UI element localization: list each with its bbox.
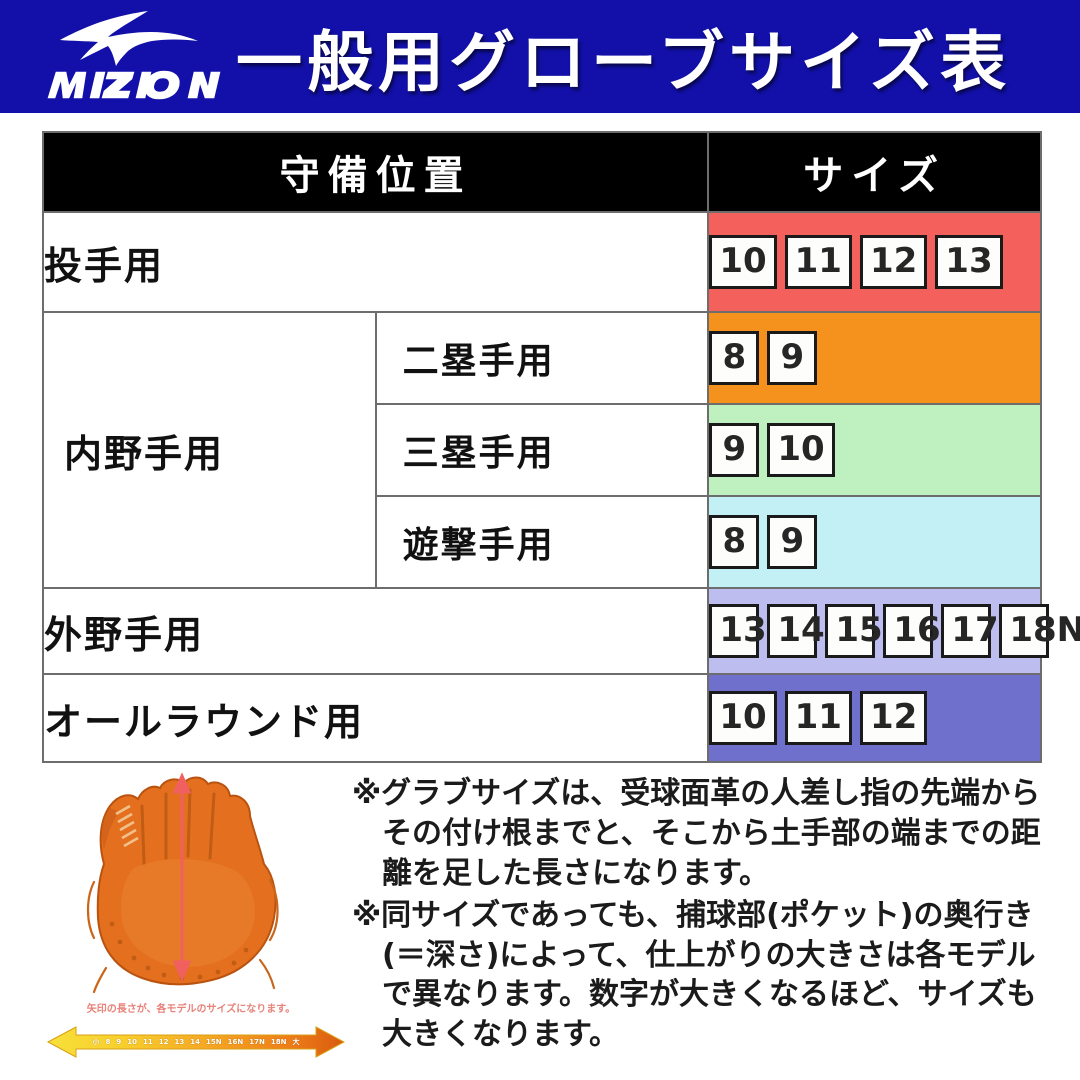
position-label-third-base: 三塁手用 <box>376 404 709 496</box>
position-label-shortstop: 遊撃手用 <box>376 496 709 588</box>
table-row: オールラウンド用 10 11 12 <box>43 674 1041 762</box>
size-badge: 12 <box>860 235 927 289</box>
size-badge-list: 13 14 15N 16N 17N 18N <box>709 604 1040 658</box>
glove-size-table: 守備位置 サイズ 投手用 10 11 12 13 内野手用 二塁手用 8 <box>42 131 1042 763</box>
position-label-pitcher: 投手用 <box>43 212 708 312</box>
size-badge-list: 10 11 12 13 <box>709 235 1040 289</box>
position-label-infield: 内野手用 <box>43 312 376 588</box>
size-badge: 9 <box>709 423 759 477</box>
mizuno-logo <box>38 8 228 108</box>
size-badge: 17N <box>941 604 991 658</box>
note-text: ※同サイズであっても、捕球部(ポケット)の奥行き(＝深さ)によって、仕上がりの大… <box>352 896 1064 1056</box>
size-badge-list: 9 10 <box>709 423 1040 477</box>
size-cell-second-base: 8 9 <box>708 312 1041 404</box>
notes-section: ※グラブサイズは、受球面革の人差し指の先端からその付け根までと、そこから土手部の… <box>352 774 1064 1057</box>
header-position: 守備位置 <box>43 132 708 212</box>
position-label-outfield: 外野手用 <box>43 588 708 674</box>
size-badge: 8 <box>709 331 759 385</box>
note-item: ※グラブサイズは、受球面革の人差し指の先端からその付け根までと、そこから土手部の… <box>352 774 1064 894</box>
size-badge: 10 <box>709 235 776 289</box>
size-badge: 10 <box>709 691 776 745</box>
size-cell-shortstop: 8 9 <box>708 496 1041 588</box>
size-badge: 18N <box>999 604 1049 658</box>
size-cell-outfield: 13 14 15N 16N 17N 18N <box>708 588 1041 674</box>
size-badge: 11 <box>785 235 852 289</box>
size-badge: 11 <box>785 691 852 745</box>
table-row: 投手用 10 11 12 13 <box>43 212 1041 312</box>
size-badge: 10 <box>767 423 834 477</box>
size-badge: 15N <box>825 604 875 658</box>
mizuno-runbird-icon <box>56 10 216 66</box>
size-badge-list: 8 9 <box>709 515 1040 569</box>
size-badge: 13 <box>935 235 1002 289</box>
size-badge: 12 <box>860 691 927 745</box>
page-title: 一般用グローブサイズ表 <box>236 9 1011 105</box>
table-header-row: 守備位置 サイズ <box>43 132 1041 212</box>
size-badge-list: 8 9 <box>709 331 1040 385</box>
note-item: ※同サイズであっても、捕球部(ポケット)の奥行き(＝深さ)によって、仕上がりの大… <box>352 896 1064 1056</box>
baseball-glove-image <box>64 772 314 994</box>
size-badge: 13 <box>709 604 759 658</box>
size-badge: 16N <box>883 604 933 658</box>
glove-arrow-caption: 矢印の長さが、各モデルのサイズになります。 <box>36 1000 346 1015</box>
size-badge: 8 <box>709 515 759 569</box>
table-row: 内野手用 二塁手用 8 9 <box>43 312 1041 404</box>
header-size: サイズ <box>708 132 1041 212</box>
size-cell-allround: 10 11 12 <box>708 674 1041 762</box>
header-banner: 一般用グローブサイズ表 <box>0 0 1080 113</box>
size-badge: 9 <box>767 331 817 385</box>
position-label-second-base: 二塁手用 <box>376 312 709 404</box>
bottom-section: 矢印の長さが、各モデルのサイズになります。 小 8 9 10 11 12 13 … <box>0 766 1080 1080</box>
size-badge: 14 <box>767 604 817 658</box>
size-cell-pitcher: 10 11 12 13 <box>708 212 1041 312</box>
position-label-allround: オールラウンド用 <box>43 674 708 762</box>
mizuno-wordmark-icon <box>42 64 228 104</box>
size-badge-list: 10 11 12 <box>709 691 1040 745</box>
glove-illustration-area: 矢印の長さが、各モデルのサイズになります。 小 8 9 10 11 12 13 … <box>36 772 346 1072</box>
size-badge: 9 <box>767 515 817 569</box>
table-row: 外野手用 13 14 15N 16N 17N 18N <box>43 588 1041 674</box>
size-scale-arrow-icon <box>46 1024 346 1060</box>
note-text: ※グラブサイズは、受球面革の人差し指の先端からその付け根までと、そこから土手部の… <box>352 774 1064 894</box>
size-cell-third-base: 9 10 <box>708 404 1041 496</box>
